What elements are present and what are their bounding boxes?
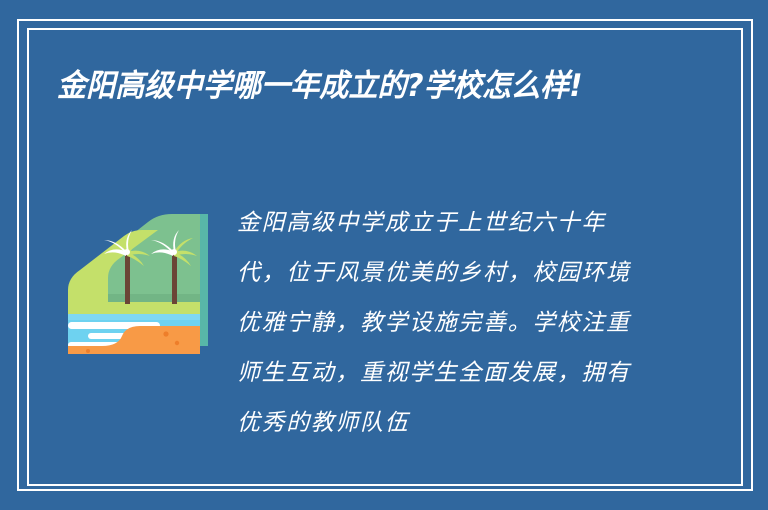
beach-island-graphic	[62, 206, 208, 364]
content-row: 金阳高级中学成立于上世纪六十年代，位于风景优美的乡村，校园环境优雅宁静，教学设施…	[57, 198, 697, 448]
beach-island-illustration	[62, 206, 208, 364]
page-title: 金阳高级中学哪一年成立的?学校怎么样!	[57, 60, 583, 112]
article-body-text: 金阳高级中学成立于上世纪六十年代，位于风景优美的乡村，校园环境优雅宁静，教学设施…	[237, 198, 649, 448]
